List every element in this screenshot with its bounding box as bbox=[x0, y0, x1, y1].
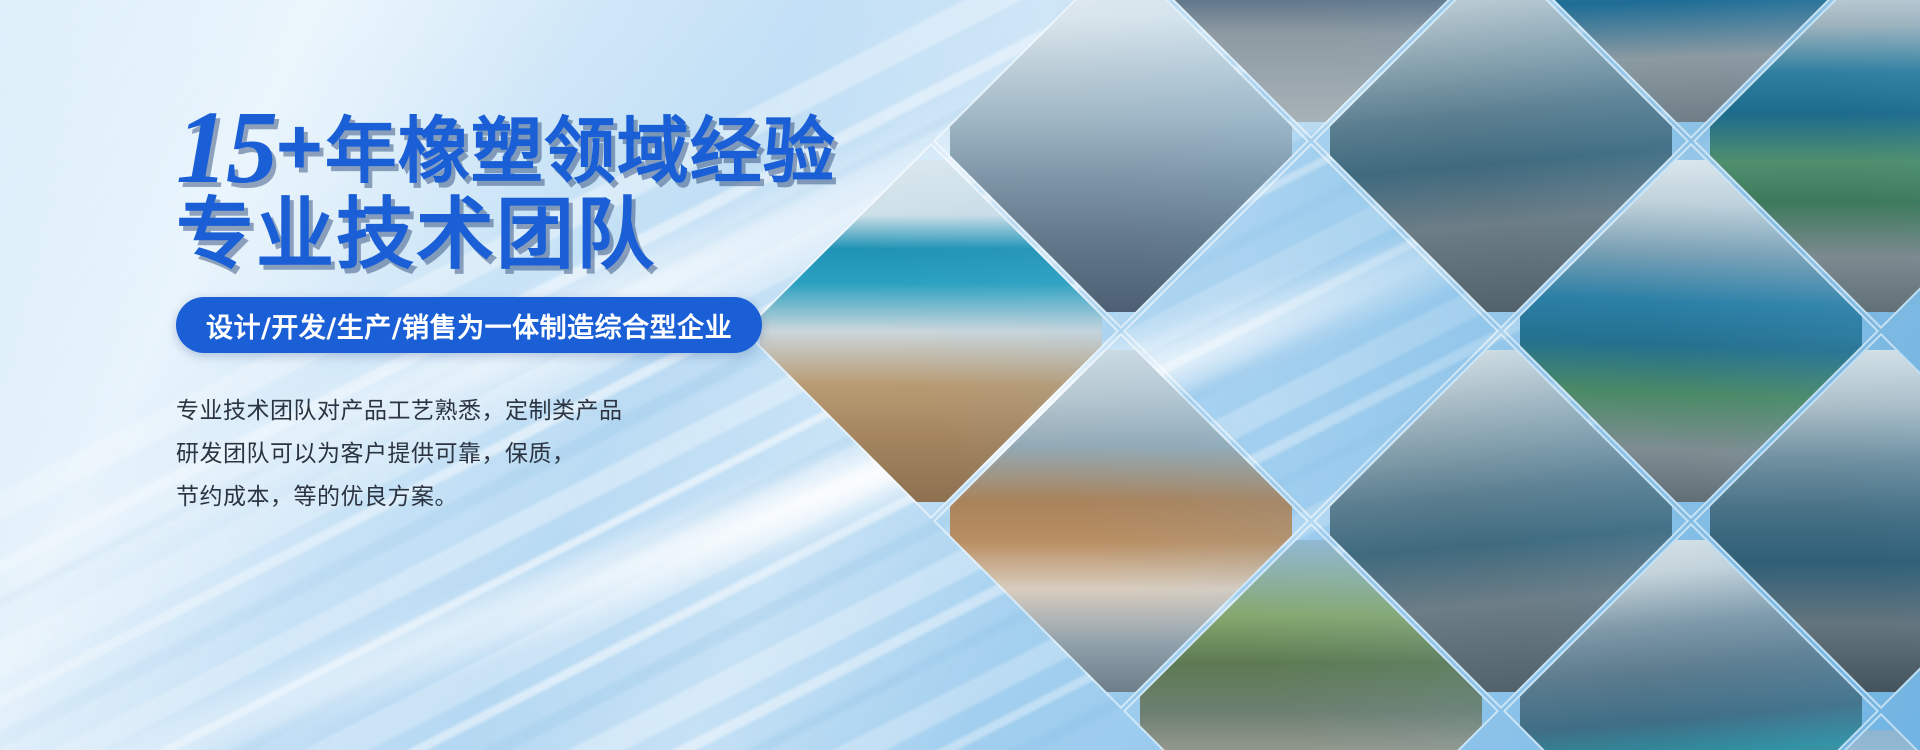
headline-primary: 15+年橡塑领域经验 bbox=[176, 96, 836, 200]
description-paragraph: 专业技术团队对产品工艺熟悉，定制类产品 研发团队可以为客户提供可靠，保质， 节约… bbox=[176, 390, 623, 519]
collage-tile-packing-area bbox=[1696, 0, 1920, 326]
headline-primary-suffix: 年橡塑领域经验 bbox=[325, 115, 836, 187]
collage-tile-inspection-station bbox=[1316, 0, 1687, 326]
promo-banner: 15+年橡塑领域经验 专业技术团队 设计/开发/生产/销售为一体制造综合型企业 … bbox=[0, 0, 1920, 750]
headline-secondary: 专业技术团队 bbox=[176, 196, 656, 274]
collage-tile-cleanroom-workers bbox=[1506, 0, 1877, 136]
collage-tile-workshop-2 bbox=[1506, 526, 1877, 750]
description-line-2: 研发团队可以为客户提供可靠，保质， bbox=[176, 433, 623, 476]
services-badge: 设计/开发/生产/销售为一体制造综合型企业 bbox=[176, 297, 762, 353]
collage-tile-production-machine bbox=[1316, 336, 1687, 707]
collage-tile-meeting-room bbox=[936, 336, 1307, 707]
collage-tile-office-desks bbox=[1126, 146, 1497, 517]
description-line-1: 专业技术团队对产品工艺熟悉，定制类产品 bbox=[176, 390, 623, 433]
services-badge-label: 设计/开发/生产/销售为一体制造综合型企业 bbox=[206, 306, 732, 345]
collage-tile-street-crowd bbox=[1126, 0, 1497, 136]
collage-tile-assembly-line bbox=[1506, 146, 1877, 517]
collage-tile-open-office bbox=[936, 0, 1307, 326]
collage-tile-molding-machine bbox=[1696, 336, 1920, 707]
banner-text-block: 15+年橡塑领域经验 专业技术团队 设计/开发/生产/销售为一体制造综合型企业 … bbox=[0, 0, 960, 750]
collage-tile-street-2 bbox=[1696, 716, 1920, 750]
headline-years-number: 15 bbox=[176, 96, 276, 200]
description-line-3: 节约成本，等的优良方案。 bbox=[176, 476, 623, 519]
headline-plus-symbol: + bbox=[276, 107, 323, 187]
collage-tile-street-crowd-2 bbox=[1126, 526, 1497, 750]
